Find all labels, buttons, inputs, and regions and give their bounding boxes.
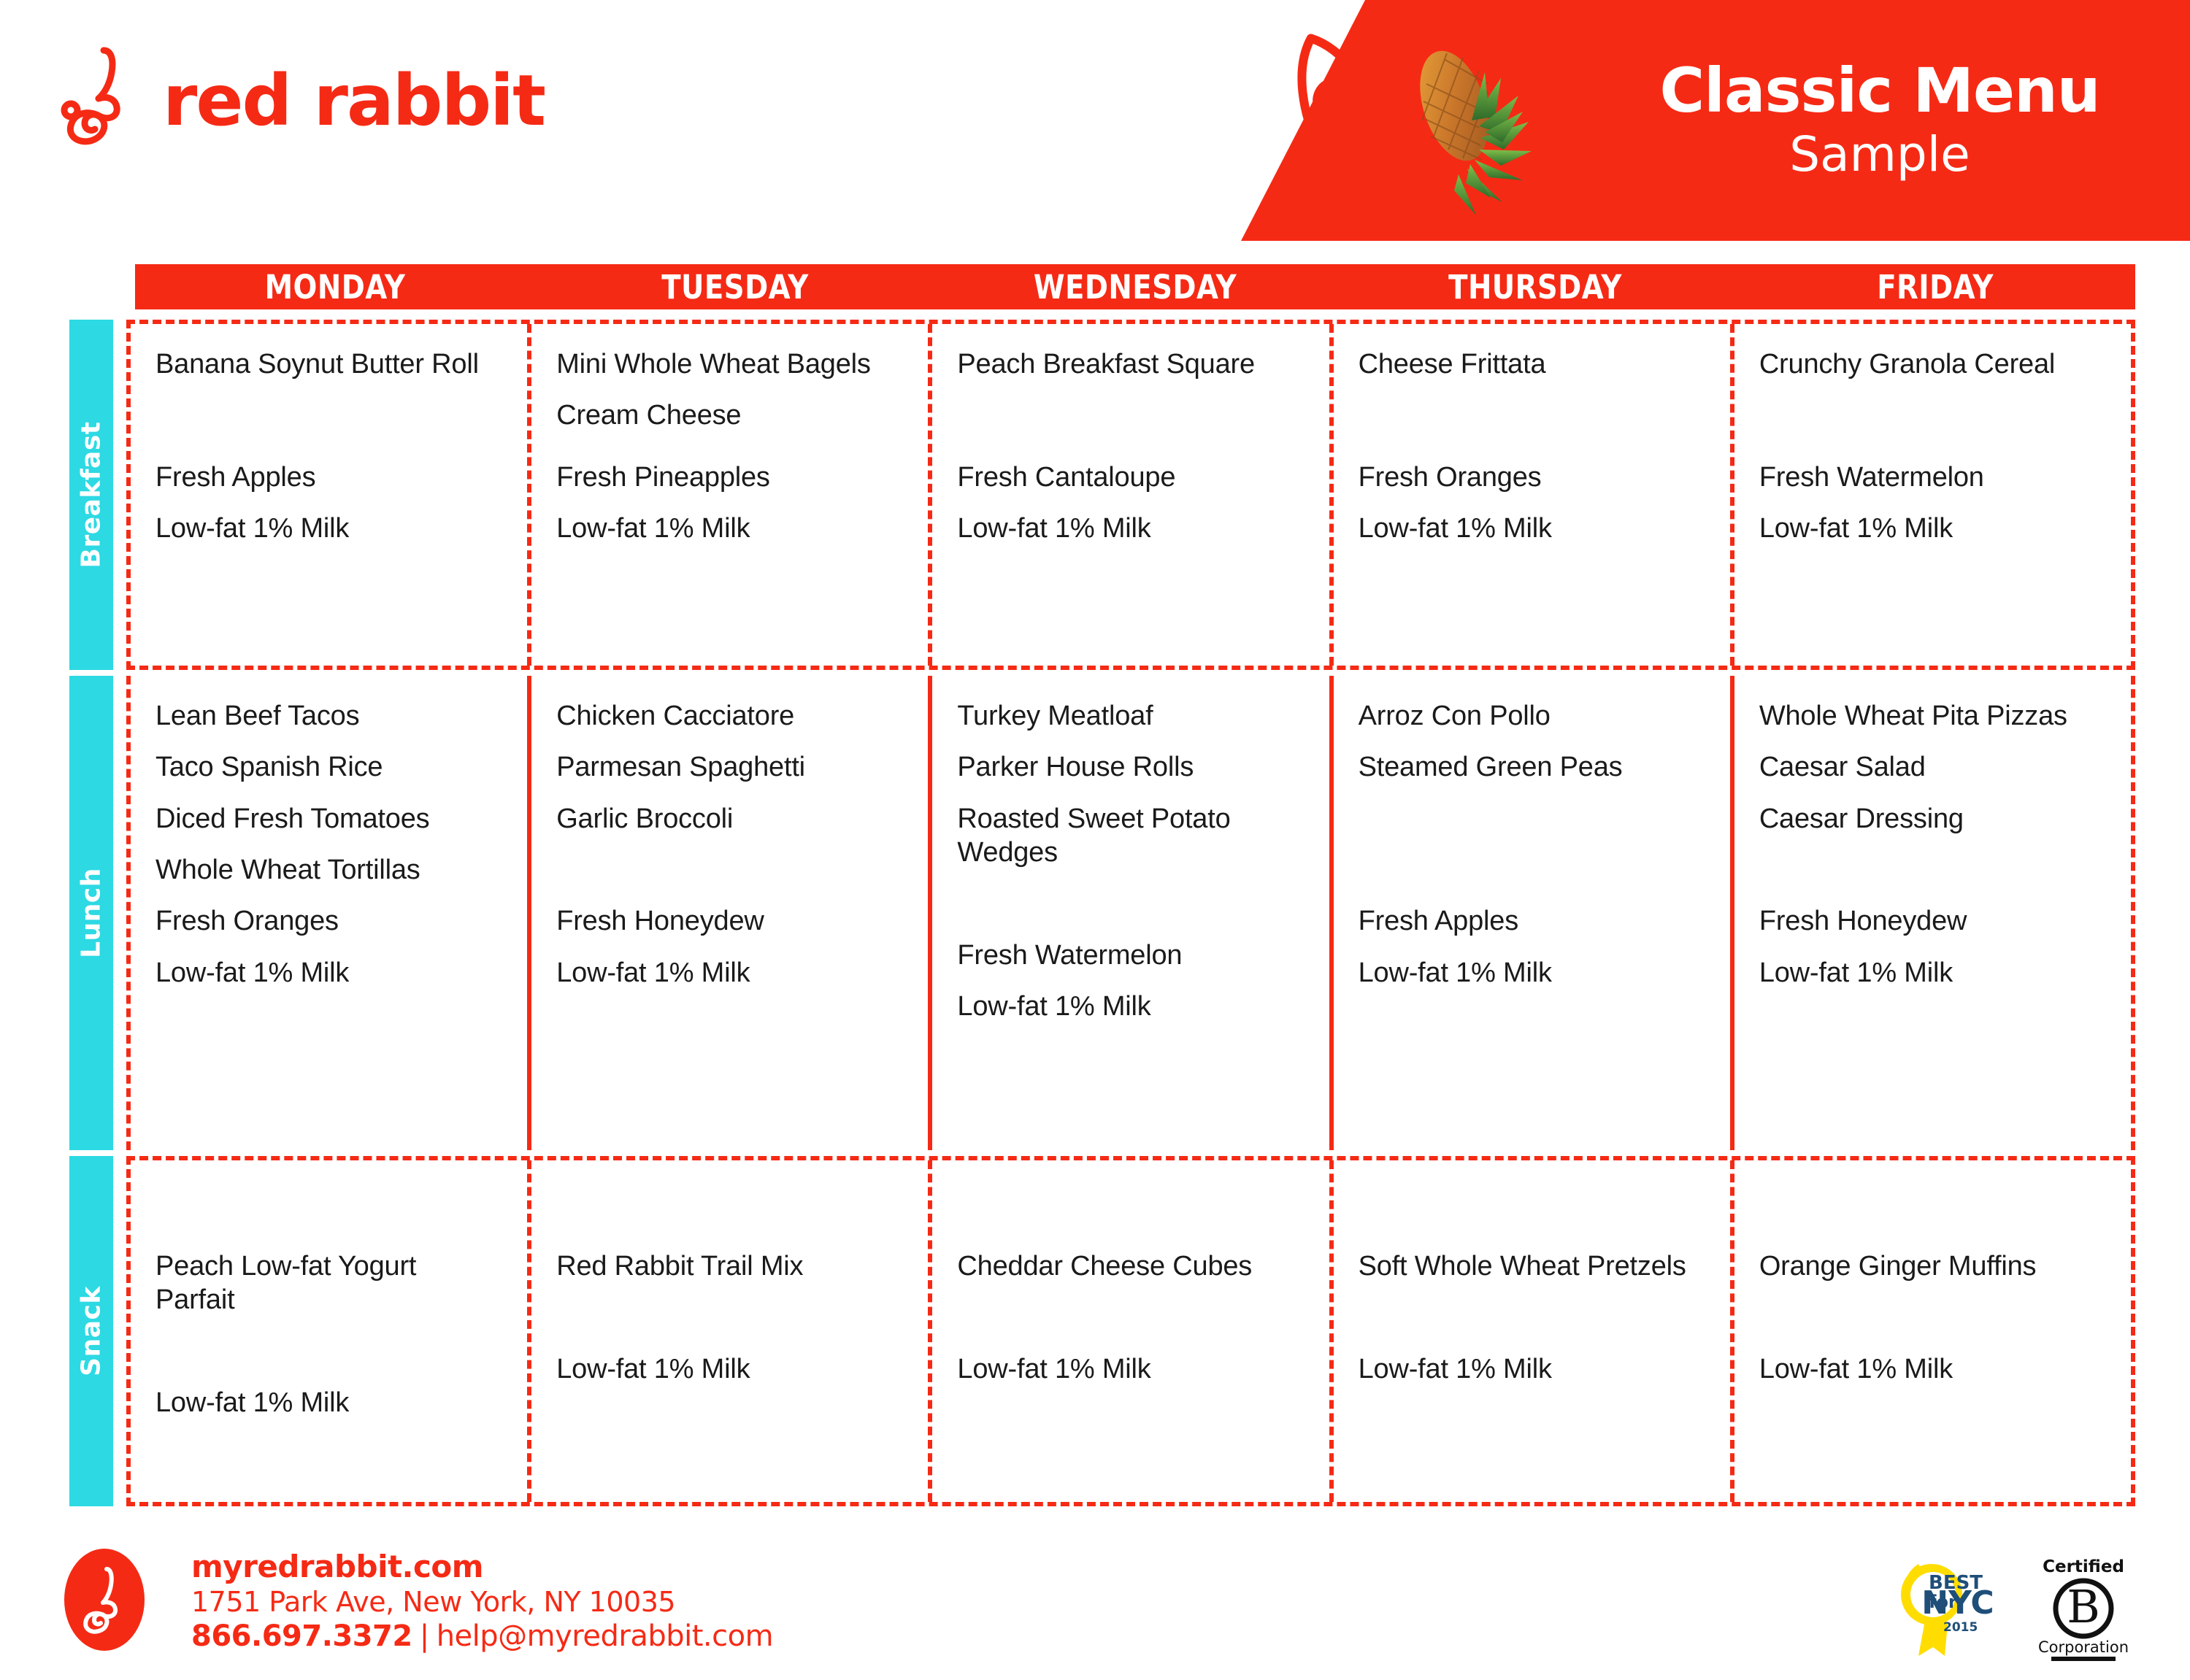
cell-snack-friday[interactable]: Orange Ginger Muffins Low-fat 1% Milk [1730, 1160, 2131, 1502]
menu-item: Peach Low-fat Yogurt Parfait [155, 1249, 502, 1317]
menu-item: Fresh Watermelon [957, 939, 1304, 972]
footer-phone-email: 866.697.3372|help@myredrabbit.com [191, 1619, 773, 1654]
cell-breakfast-friday[interactable]: Crunchy Granola Cereal Fresh Watermelon … [1730, 324, 2131, 666]
snack-cells: Peach Low-fat Yogurt Parfait Low-fat 1% … [126, 1156, 2135, 1506]
menu-item: Soft Whole Wheat Pretzels [1359, 1249, 1705, 1283]
menu-item: Orange Ginger Muffins [1759, 1249, 2106, 1283]
rabbit-logo-icon [64, 1549, 145, 1651]
menu-item: Garlic Broccoli [556, 802, 903, 836]
menu-item: Low-fat 1% Milk [556, 1352, 903, 1386]
rabbit-logo-icon [58, 40, 150, 150]
cell-lunch-thursday[interactable]: Arroz Con Pollo Steamed Green Peas Fresh… [1329, 676, 1730, 1150]
menu-item: Caesar Salad [1759, 750, 2106, 784]
menu-item: Crunchy Granola Cereal [1759, 347, 2106, 381]
day-header-monday: MONDAY [163, 264, 507, 309]
meal-row-lunch: Lunch Lean Beef Tacos Taco Spanish Rice … [69, 676, 2135, 1150]
menu-item: Fresh Honeydew [556, 904, 903, 938]
footer-phone[interactable]: 866.697.3372 [191, 1619, 412, 1653]
page-footer: myredrabbit.com 1751 Park Ave, New York,… [0, 1547, 2190, 1680]
cell-snack-wednesday[interactable]: Cheddar Cheese Cubes Low-fat 1% Milk [928, 1160, 1329, 1502]
menu-item: Cheddar Cheese Cubes [957, 1249, 1304, 1283]
meal-label-lunch: Lunch [69, 676, 113, 1150]
b-corporation-badge: Certified B Corporation [2029, 1553, 2137, 1664]
cell-breakfast-tuesday[interactable]: Mini Whole Wheat Bagels Cream Cheese Fre… [527, 324, 928, 666]
day-header-tuesday: TUESDAY [563, 264, 907, 309]
menu-grid: Breakfast Banana Soynut Butter Roll Fres… [69, 320, 2135, 1512]
bcorp-line1: Certified [2043, 1557, 2124, 1576]
footer-address: 1751 Park Ave, New York, NY 10035 [191, 1585, 773, 1619]
menu-item: Roasted Sweet Potato Wedges [957, 802, 1304, 870]
brand-wordmark: red rabbit [163, 66, 545, 136]
brand-logo: red rabbit [58, 40, 545, 150]
bcorp-letter: B [2067, 1580, 2100, 1633]
badge-line3: NYC [1921, 1584, 1994, 1622]
menu-item: Low-fat 1% Milk [556, 956, 903, 990]
menu-item: Low-fat 1% Milk [1759, 512, 2106, 545]
cell-lunch-monday[interactable]: Lean Beef Tacos Taco Spanish Rice Diced … [131, 676, 527, 1150]
cell-snack-monday[interactable]: Peach Low-fat Yogurt Parfait Low-fat 1% … [131, 1160, 527, 1502]
menu-item: Low-fat 1% Milk [155, 1386, 502, 1419]
meal-label-breakfast: Breakfast [69, 320, 113, 670]
cell-snack-tuesday[interactable]: Red Rabbit Trail Mix Low-fat 1% Milk [527, 1160, 928, 1502]
menu-item: Parmesan Spaghetti [556, 750, 903, 784]
footer-separator: | [412, 1619, 437, 1653]
cell-breakfast-thursday[interactable]: Cheese Frittata Fresh Oranges Low-fat 1%… [1329, 324, 1730, 666]
menu-item: Fresh Pineapples [556, 461, 903, 494]
banner-text-block: Classic Menu Sample [1219, 0, 2190, 241]
cell-lunch-friday[interactable]: Whole Wheat Pita Pizzas Caesar Salad Cae… [1730, 676, 2131, 1150]
footer-website[interactable]: myredrabbit.com [191, 1549, 773, 1585]
menu-item: Low-fat 1% Milk [1759, 1352, 2106, 1386]
badge-year: 2015 [1943, 1620, 1978, 1635]
menu-item: Parker House Rolls [957, 750, 1304, 784]
menu-item: Low-fat 1% Milk [1359, 956, 1705, 990]
menu-item: Red Rabbit Trail Mix [556, 1249, 903, 1283]
menu-item: Lean Beef Tacos [155, 699, 502, 733]
footer-contact-block: myredrabbit.com 1751 Park Ave, New York,… [191, 1549, 773, 1654]
menu-title: Classic Menu [1659, 58, 2099, 123]
day-header-friday: FRIDAY [1763, 264, 2107, 309]
menu-item: Whole Wheat Pita Pizzas [1759, 699, 2106, 733]
meal-label-snack-text: Snack [77, 1286, 107, 1376]
day-header-row: MONDAY TUESDAY WEDNESDAY THURSDAY FRIDAY [135, 264, 2135, 309]
meal-label-lunch-text: Lunch [77, 868, 107, 958]
menu-item: Arroz Con Pollo [1359, 699, 1705, 733]
menu-item: Steamed Green Peas [1359, 750, 1705, 784]
menu-item: Mini Whole Wheat Bagels [556, 347, 903, 381]
menu-item: Peach Breakfast Square [957, 347, 1304, 381]
menu-item: Cream Cheese [556, 398, 903, 432]
menu-item: Fresh Apples [155, 461, 502, 494]
menu-item: Fresh Oranges [155, 904, 502, 938]
menu-item: Diced Fresh Tomatoes [155, 802, 502, 836]
bcorp-line3: Corporation [2038, 1638, 2129, 1656]
menu-item: Low-fat 1% Milk [155, 512, 502, 545]
menu-item: Whole Wheat Tortillas [155, 853, 502, 887]
menu-item: Low-fat 1% Milk [957, 512, 1304, 545]
menu-item: Low-fat 1% Milk [556, 512, 903, 545]
meal-label-snack: Snack [69, 1156, 113, 1506]
menu-item: Fresh Cantaloupe [957, 461, 1304, 494]
menu-item: Low-fat 1% Milk [957, 1352, 1304, 1386]
menu-item: Fresh Honeydew [1759, 904, 2106, 938]
menu-item: Low-fat 1% Milk [1359, 512, 1705, 545]
breakfast-cells: Banana Soynut Butter Roll Fresh Apples L… [126, 320, 2135, 670]
cell-lunch-wednesday[interactable]: Turkey Meatloaf Parker House Rolls Roast… [928, 676, 1329, 1150]
menu-item: Fresh Oranges [1359, 461, 1705, 494]
menu-item: Low-fat 1% Milk [1759, 956, 2106, 990]
menu-item: Low-fat 1% Milk [957, 990, 1304, 1023]
menu-item: Chicken Cacciatore [556, 699, 903, 733]
menu-item: Taco Spanish Rice [155, 750, 502, 784]
meal-row-breakfast: Breakfast Banana Soynut Butter Roll Fres… [69, 320, 2135, 670]
menu-item: Banana Soynut Butter Roll [155, 347, 502, 381]
footer-badges: BEST for NYC 2015 Certified B Corporatio… [1891, 1553, 2137, 1664]
cell-snack-thursday[interactable]: Soft Whole Wheat Pretzels Low-fat 1% Mil… [1329, 1160, 1730, 1502]
day-header-wednesday: WEDNESDAY [963, 264, 1307, 309]
meal-row-snack: Snack Peach Low-fat Yogurt Parfait Low-f… [69, 1156, 2135, 1506]
menu-item: Fresh Apples [1359, 904, 1705, 938]
menu-subtitle: Sample [1789, 127, 1970, 182]
menu-item: Cheese Frittata [1359, 347, 1705, 381]
menu-item: Low-fat 1% Milk [1359, 1352, 1705, 1386]
meal-label-breakfast-text: Breakfast [77, 422, 107, 569]
best-for-nyc-badge: BEST for NYC 2015 [1891, 1554, 2013, 1663]
menu-item: Turkey Meatloaf [957, 699, 1304, 733]
cell-lunch-tuesday[interactable]: Chicken Cacciatore Parmesan Spaghetti Ga… [527, 676, 928, 1150]
day-header-thursday: THURSDAY [1363, 264, 1707, 309]
cell-breakfast-monday[interactable]: Banana Soynut Butter Roll Fresh Apples L… [131, 324, 527, 666]
menu-item: Fresh Watermelon [1759, 461, 2106, 494]
cell-breakfast-wednesday[interactable]: Peach Breakfast Square Fresh Cantaloupe … [928, 324, 1329, 666]
footer-email[interactable]: help@myredrabbit.com [437, 1619, 773, 1653]
menu-item: Low-fat 1% Milk [155, 956, 502, 990]
menu-item: Caesar Dressing [1759, 802, 2106, 836]
lunch-cells: Lean Beef Tacos Taco Spanish Rice Diced … [126, 676, 2135, 1150]
page-header: red rabbit [0, 0, 2190, 241]
